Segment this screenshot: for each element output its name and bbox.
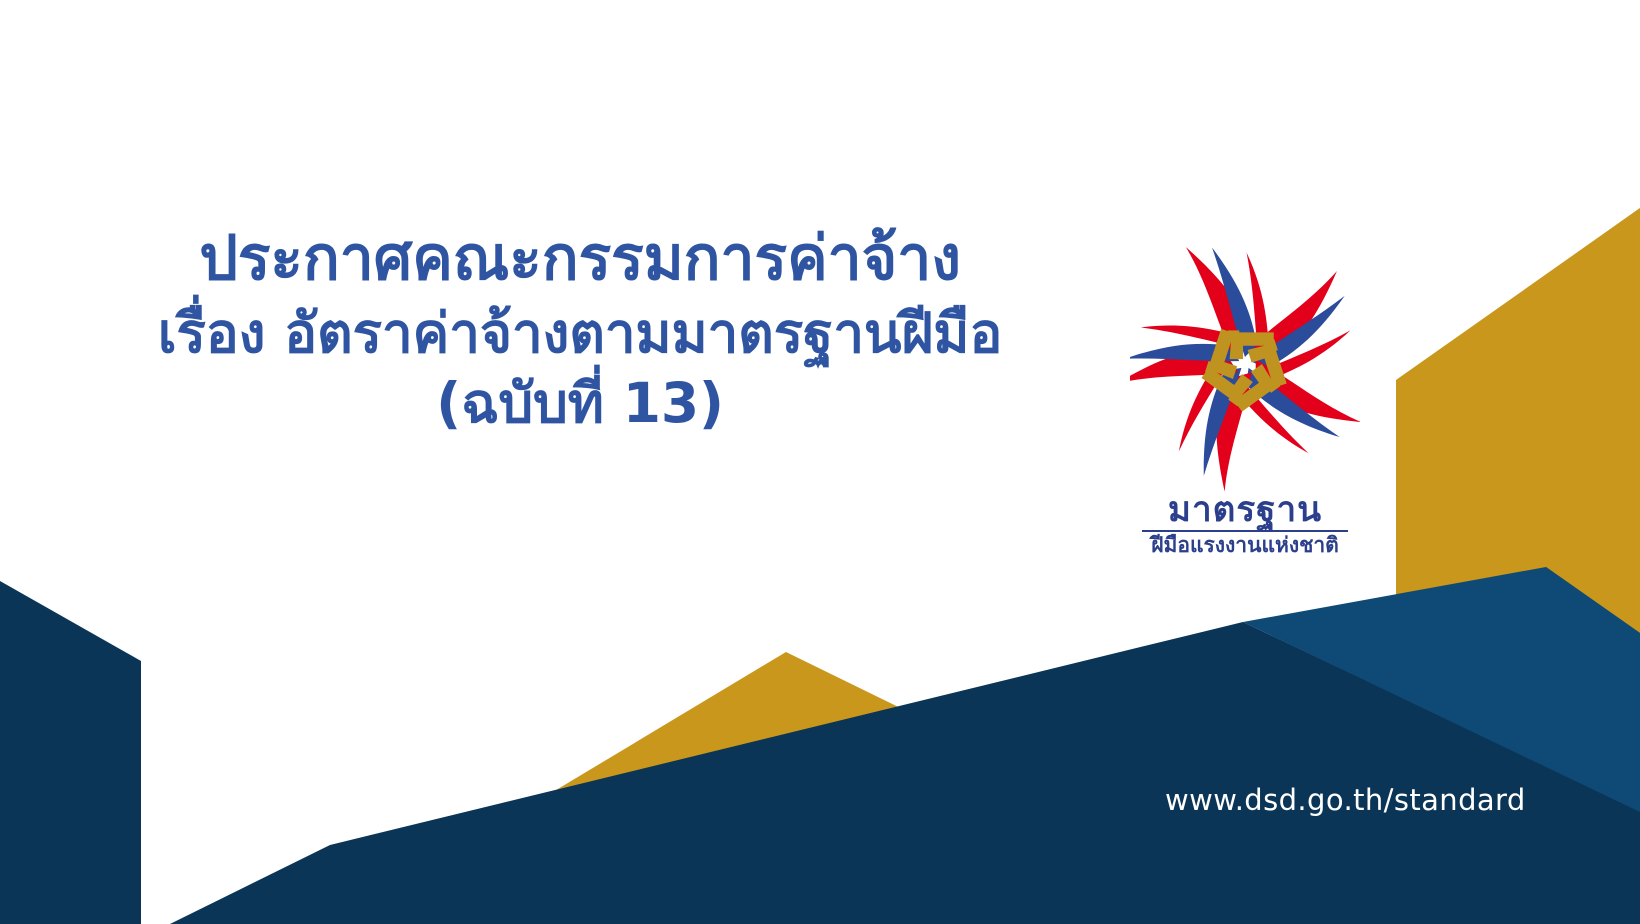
right-blue-wedge: [1215, 567, 1640, 924]
pinwheel-emblem-icon: [1130, 228, 1360, 498]
website-url[interactable]: www.dsd.go.th/standard: [1165, 783, 1526, 817]
logo-subtext: ฝีมือแรงงานแห่งชาติ: [1110, 534, 1380, 557]
logo-divider: [1142, 530, 1348, 532]
right-gold-panel-top: [1396, 208, 1640, 700]
announcement-banner: ประกาศคณะกรรมการค่าจ้าง เรื่อง อัตราค่าจ…: [0, 0, 1640, 924]
organization-logo: มาตรฐาน ฝีมือแรงงานแห่งชาติ: [1110, 228, 1380, 557]
right-blue-slope: [1243, 567, 1640, 812]
logo-wordmark: มาตรฐาน: [1110, 492, 1380, 529]
headline-line-3: (ฉบับที่ 13): [60, 370, 1100, 437]
headline-line-1: ประกาศคณะกรรมการค่าจ้าง: [60, 222, 1100, 296]
ribbon-group: [1130, 234, 1360, 498]
headline-line-2: เรื่อง อัตราค่าจ้างตามมาตรฐานฝีมือ: [60, 300, 1100, 367]
left-navy-pillar: [0, 581, 141, 924]
navy-mountain: [170, 622, 1640, 924]
headline-block: ประกาศคณะกรรมการค่าจ้าง เรื่อง อัตราค่าจ…: [60, 222, 1100, 437]
